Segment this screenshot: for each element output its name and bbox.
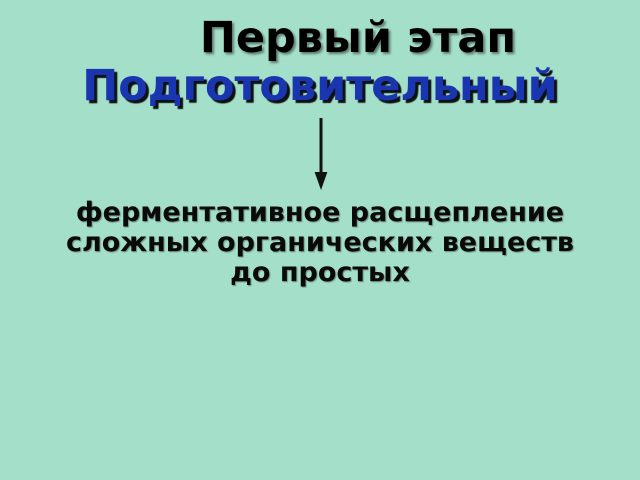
arrow-down-glyph xyxy=(314,118,328,190)
body-text-line-3: до простых xyxy=(0,258,640,288)
slide-canvas: Первый этап Подготовительный ферментатив… xyxy=(0,0,640,480)
title-line-primary: Первый этап xyxy=(0,14,640,62)
title-line-secondary: Подготовительный xyxy=(0,62,640,110)
body-text-block: ферментативное расщепление сложных орган… xyxy=(0,198,640,288)
body-text-line-1: ферментативное расщепление xyxy=(0,198,640,228)
body-text-line-2: сложных органических веществ xyxy=(0,228,640,258)
arrow-down-icon xyxy=(314,118,328,190)
